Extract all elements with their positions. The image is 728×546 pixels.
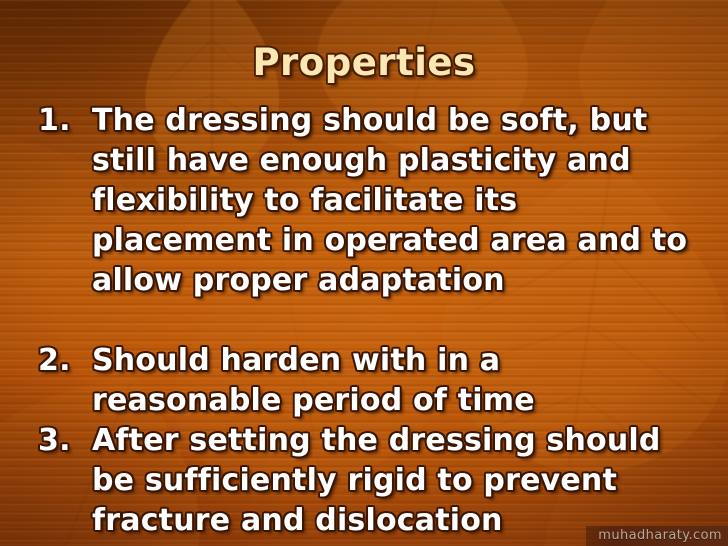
list-item-1-text: The dressing should be soft, but still h… [92,101,698,301]
slide-title: Properties [0,44,728,82]
list-item-2: 2. Should harden with in a reasonable pe… [38,341,698,421]
list-item-3-number: 3. [38,421,92,461]
slide-content: Properties 1. The dressing should be sof… [0,0,728,546]
list-item-1: 1. The dressing should be soft, but stil… [38,101,698,301]
watermark-muhadharaty: muhadharaty.com [586,526,728,546]
list-item-1-number: 1. [38,101,92,141]
list-item-2-text: Should harden with in a reasonable perio… [92,341,698,421]
numbered-list: 1. The dressing should be soft, but stil… [38,101,698,541]
list-gap-1 [38,301,698,341]
list-item-3: 3. After setting the dressing should be … [38,421,698,541]
list-item-2-number: 2. [38,341,92,381]
slide-canvas: Properties 1. The dressing should be sof… [0,0,728,546]
list-item-3-text: After setting the dressing should be suf… [92,421,698,541]
